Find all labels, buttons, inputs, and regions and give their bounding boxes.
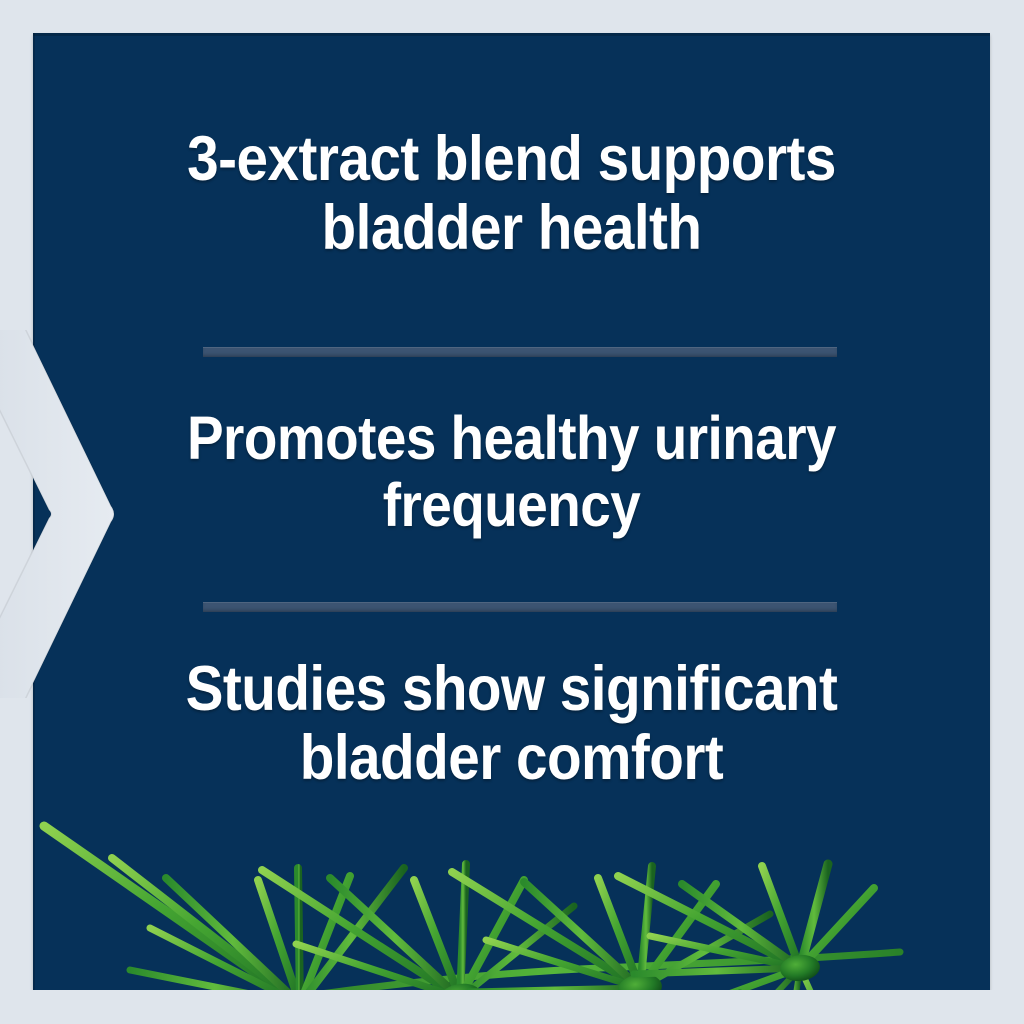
benefit-divider-1 bbox=[203, 347, 837, 357]
benefit-divider-2 bbox=[203, 602, 837, 612]
bottom-background-strip bbox=[0, 990, 1024, 1024]
benefit-headline-3: Studies show significant bladder comfort bbox=[81, 655, 942, 794]
promo-image-canvas: 3-extract blend supports bladder health … bbox=[0, 0, 1024, 1024]
benefit-headline-2: Promotes healthy urinary frequency bbox=[81, 405, 942, 539]
benefit-text-group: 3-extract blend supports bladder health … bbox=[33, 33, 990, 990]
benefit-headline-1: 3-extract blend supports bladder health bbox=[81, 125, 942, 264]
